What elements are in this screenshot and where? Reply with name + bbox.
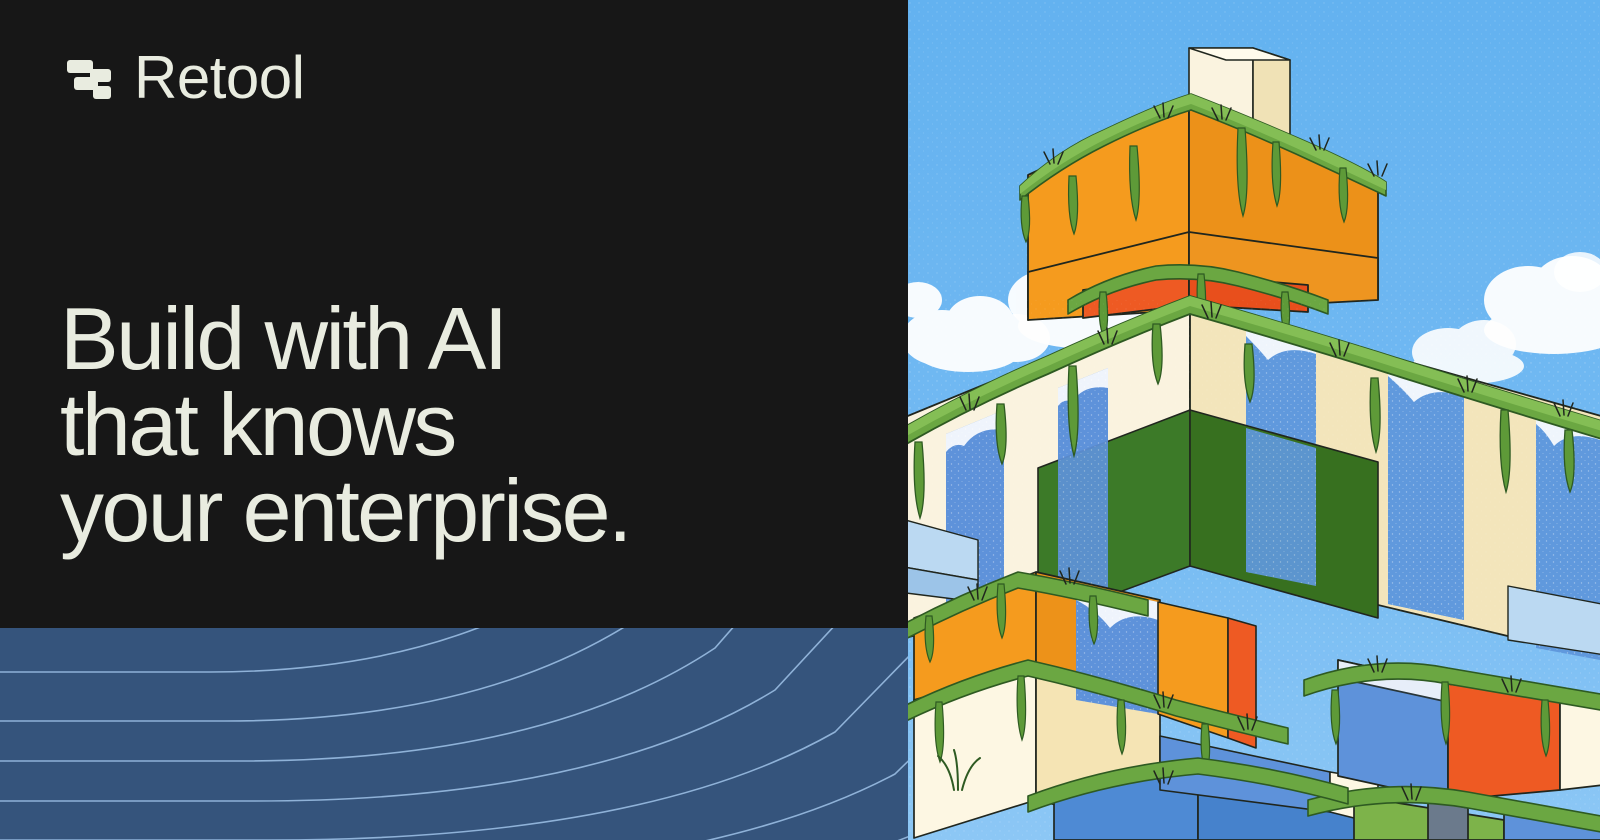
headline-line-2: that knows [60, 382, 860, 468]
isometric-blocks-illustration-icon [908, 0, 1600, 840]
page-title: Build with AI that knows your enterprise… [60, 296, 860, 554]
left-content-panel: Retool Build with AI that knows your ent… [0, 0, 908, 628]
headline-line-3: your enterprise. [60, 468, 860, 554]
brand-name: Retool [134, 48, 304, 108]
arc-pattern-panel [0, 628, 908, 840]
brand-lockup[interactable]: Retool [62, 48, 304, 108]
concentric-arc-pattern-icon [0, 628, 908, 840]
hero-banner: Retool Build with AI that knows your ent… [0, 0, 1600, 840]
hero-illustration [908, 0, 1600, 840]
headline-line-1: Build with AI [60, 296, 860, 382]
retool-logo-mark-icon [62, 51, 116, 105]
